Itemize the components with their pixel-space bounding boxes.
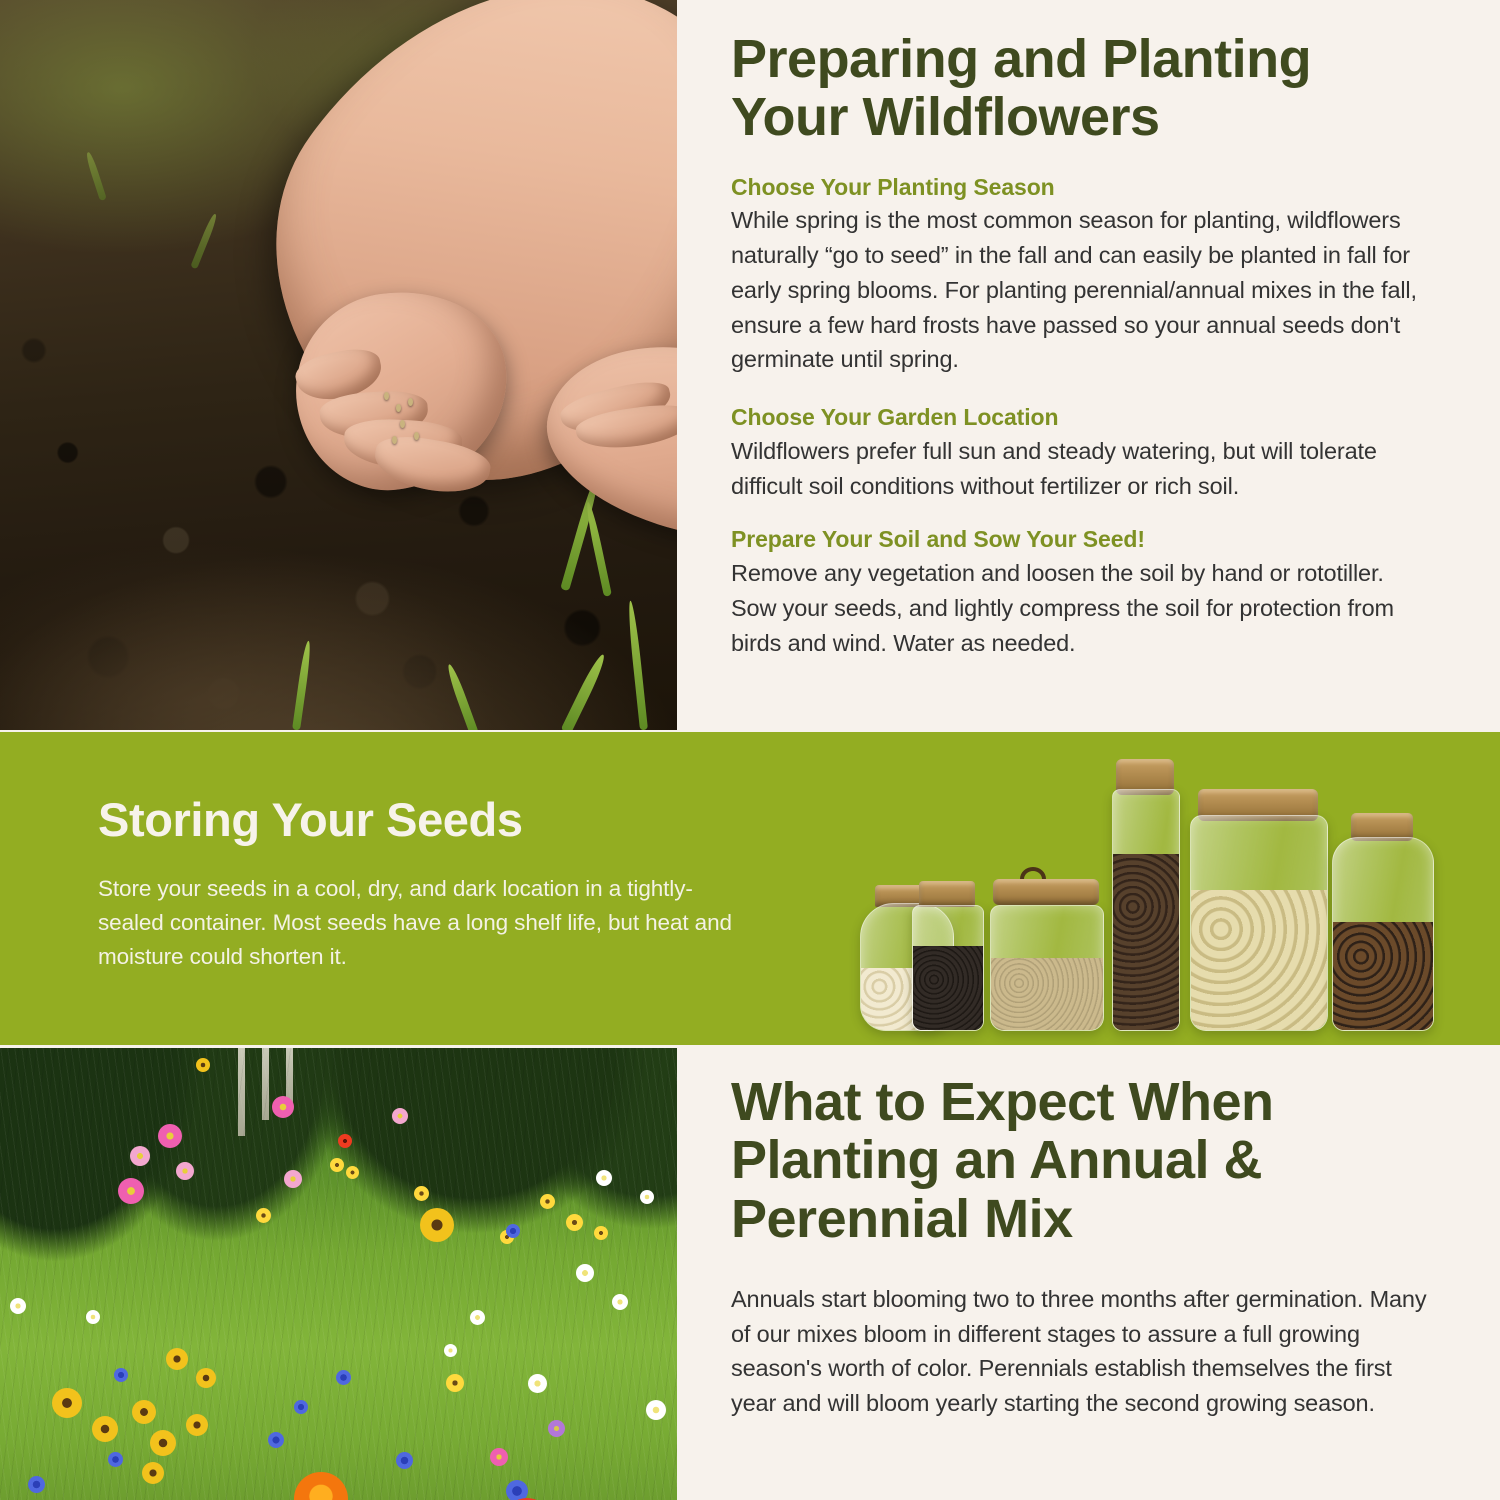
block-garden-location: Choose Your Garden Location Wildflowers …: [731, 403, 1431, 503]
bottom-title-line3: Perennial Mix: [731, 1189, 1073, 1249]
jar-fine-sand-seeds: [990, 871, 1102, 1031]
photo-seed-storage-jars: [850, 754, 1450, 1039]
section-what-to-expect: What to Expect WhenPlanting an Annual &P…: [0, 1045, 1500, 1500]
section-storing-your-seeds: Storing Your Seeds Store your seeds in a…: [0, 732, 1500, 1045]
photo-wildflower-meadow: [0, 1048, 677, 1500]
page-title-line2: Your Wildflowers: [731, 87, 1160, 147]
jar-pumpkin-seeds: [1190, 789, 1326, 1031]
body-garden-location: Wildflowers prefer full sun and steady w…: [731, 434, 1431, 504]
jar-mixed-seeds: [1332, 813, 1432, 1031]
body-planting-season: While spring is the most common season f…: [731, 203, 1431, 377]
body-what-to-expect: Annuals start blooming two to three mont…: [731, 1282, 1431, 1421]
photo-hands-sowing-seeds: [0, 0, 677, 730]
body-prepare-soil: Remove any vegetation and loosen the soi…: [731, 556, 1431, 660]
body-storing-seeds: Store your seeds in a cool, dry, and dar…: [98, 872, 743, 975]
subheading-prepare-soil: Prepare Your Soil and Sow Your Seed!: [731, 525, 1431, 554]
jar-tall-dark-seeds: [1112, 759, 1178, 1031]
bottom-title-line1: What to Expect When: [731, 1072, 1274, 1132]
page-title-preparing: Preparing and PlantingYour Wildflowers: [731, 30, 1431, 147]
block-prepare-soil: Prepare Your Soil and Sow Your Seed! Rem…: [731, 525, 1431, 660]
bottom-text-column: What to Expect WhenPlanting an Annual &P…: [731, 1045, 1431, 1421]
page-title-what-to-expect: What to Expect WhenPlanting an Annual &P…: [731, 1073, 1431, 1248]
jar-black-seeds: [912, 881, 982, 1031]
subheading-garden-location: Choose Your Garden Location: [731, 403, 1431, 432]
heading-storing-seeds: Storing Your Seeds: [98, 794, 743, 846]
block-planting-season: Choose Your Planting Season While spring…: [731, 173, 1431, 378]
top-text-column: Preparing and PlantingYour Wildflowers C…: [731, 0, 1431, 732]
green-text-column: Storing Your Seeds Store your seeds in a…: [98, 794, 743, 974]
bottom-title-line2: Planting an Annual &: [731, 1130, 1262, 1190]
section-preparing-planting: Preparing and PlantingYour Wildflowers C…: [0, 0, 1500, 732]
infographic-page: Preparing and PlantingYour Wildflowers C…: [0, 0, 1500, 1500]
page-title-line1: Preparing and Planting: [731, 29, 1311, 89]
subheading-planting-season: Choose Your Planting Season: [731, 173, 1431, 202]
